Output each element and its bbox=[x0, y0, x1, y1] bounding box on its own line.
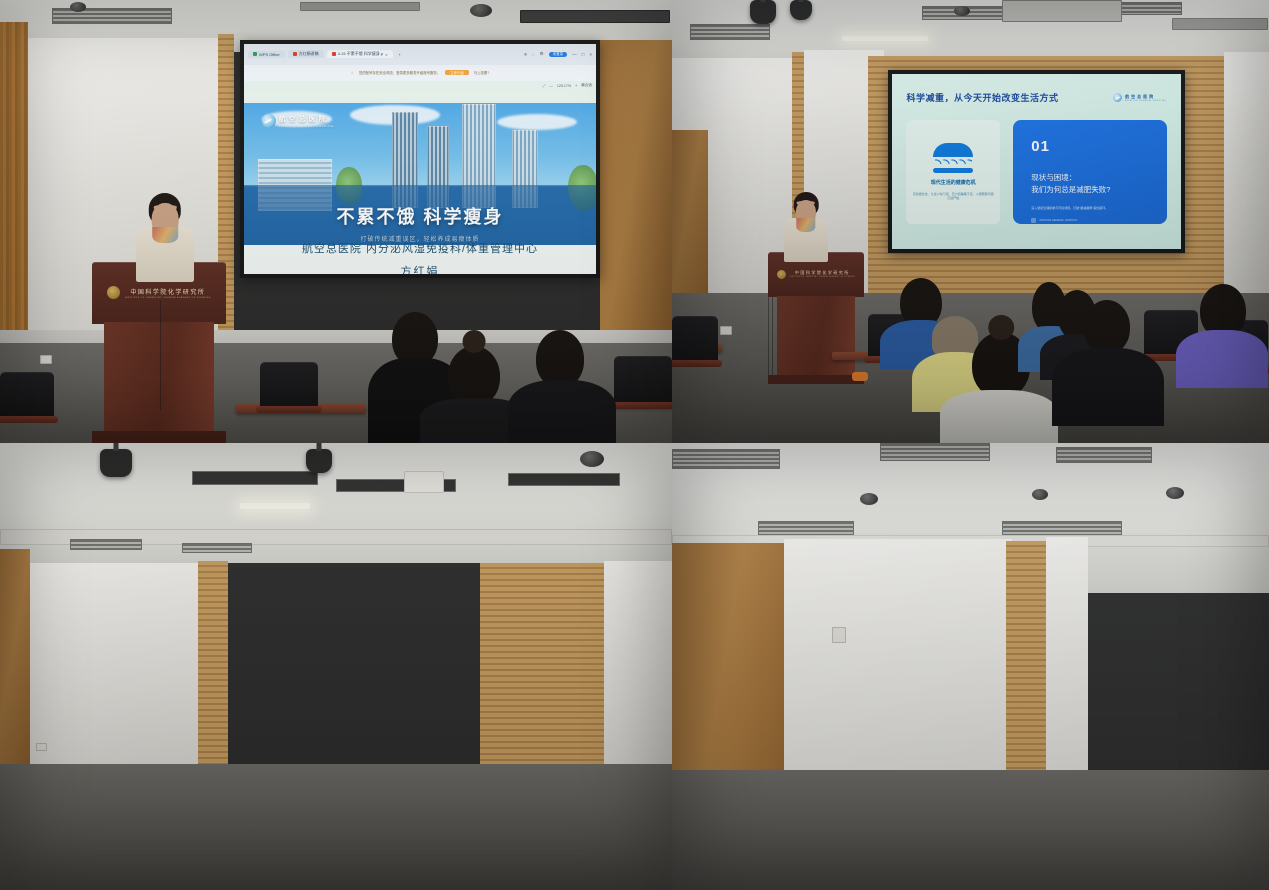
hospital-name-en: AVIATION GENERAL HOSPITAL bbox=[1125, 100, 1166, 102]
section-number: 01 bbox=[1031, 138, 1148, 155]
ppt-icon bbox=[332, 52, 336, 56]
audience-seat bbox=[672, 316, 718, 362]
ceiling-speaker-icon bbox=[580, 451, 604, 467]
wall-outlet-icon bbox=[832, 627, 846, 643]
ceiling-speaker-icon bbox=[860, 493, 878, 505]
hospital-mark-icon bbox=[1113, 93, 1122, 102]
section-note: 深入剖析生理机制与环境诱因，打破“越减越胖”恶性循环。 bbox=[1031, 206, 1148, 211]
ceiling-spotlight-icon bbox=[306, 449, 332, 473]
settings-icon[interactable]: ⚙ bbox=[540, 51, 544, 57]
hospital-name-cn: 航空总医院 bbox=[279, 114, 335, 124]
lectern: 中国科学院化学研究所 INSTITUTE OF CHEMISTRY, CHINE… bbox=[92, 262, 226, 443]
slide-hero-image: 航空总医院 AVIATION GENERAL HOSPITAL 不累不饿 科学瘦… bbox=[244, 103, 596, 246]
section-line-2: 我们为何总是减肥失败? bbox=[1031, 184, 1148, 196]
wps-tab-ppt-active[interactable]: 4-15 不累不饿 科学瘦身.p × bbox=[327, 50, 393, 58]
tab-label: WPS Office bbox=[259, 52, 280, 57]
speaker-figure bbox=[784, 196, 828, 262]
section-number-card: 01 现状与困境： 我们为何总是减肥失败? 深入剖析生理机制与环境诱因，打破“越… bbox=[1013, 120, 1166, 224]
venue-name-en: INSTITUTE OF CHEMISTRY, CHINESE ACADEMY … bbox=[790, 277, 856, 278]
wps-tab-home[interactable]: WPS Office bbox=[248, 51, 285, 58]
card-heading: 现代生活的健康危机 bbox=[931, 179, 976, 186]
venue-name-cn: 中国科学院化学研究所 bbox=[130, 287, 205, 296]
security-notice-bar: ⚠ 您的账号存在安全风险，登录更多服务升级账号服务。 立即升级 马上查看? bbox=[244, 65, 596, 81]
zoom-level-label: 125.17% bbox=[557, 84, 571, 88]
ceiling-spotlight-icon bbox=[100, 449, 132, 477]
zoom-controls[interactable]: ⤢ — 125.17% + 最合适 bbox=[542, 83, 592, 88]
notice-link[interactable]: 马上查看? bbox=[474, 70, 489, 75]
slide-speaker-name: 方红娟 bbox=[401, 263, 440, 274]
panel-bottom-left: 你是哪一种? 航空总医院 AVIATION GENERAL HOSPITAL bbox=[0, 443, 672, 890]
hero-text-band: 不累不饿 科学瘦身 打破传统减重误区，轻松养成易瘦体质 拒绝饥饿与疲惫，用科学重… bbox=[244, 185, 596, 245]
health-crisis-card: 现代生活的健康危机 高热量饮食、久坐少动习惯、压力和睡眠不足，人群肥胖问题日益严… bbox=[906, 120, 1000, 224]
ceiling-speaker-icon bbox=[1166, 487, 1184, 499]
share-icon[interactable]: ⌾ bbox=[524, 52, 527, 57]
close-icon[interactable]: × bbox=[385, 52, 387, 57]
ceiling-speaker-icon bbox=[70, 2, 86, 12]
audience-seat bbox=[614, 356, 672, 404]
lectern: 中国科学院化学研究所 INSTITUTE OF CHEMISTRY, CHINE… bbox=[768, 252, 864, 384]
slide-title: 航空总医院 AVIATION GENERAL HOSPITAL 不累不饿 科学瘦… bbox=[244, 103, 596, 246]
slide-section-01: 科学减重，从今天开始改变生活方式 航空总医院 AVIATION GENERAL … bbox=[892, 74, 1181, 249]
ceiling-spotlight-icon bbox=[790, 0, 812, 20]
burger-icon bbox=[933, 143, 973, 173]
hospital-logo: 航空总医院 AVIATION GENERAL HOSPITAL bbox=[1113, 93, 1166, 102]
ceiling-speaker-icon bbox=[1032, 489, 1048, 500]
slide-org-line: 航空总医院 内分泌风湿免疫科/体重管理中心 bbox=[302, 240, 538, 256]
wall-outlet-icon bbox=[36, 743, 47, 751]
audience-head bbox=[1084, 300, 1130, 354]
projector bbox=[404, 471, 444, 493]
venue-name-en: INSTITUTE OF CHEMISTRY, CHINESE ACADEMY … bbox=[125, 297, 211, 299]
wall-outlet-icon bbox=[40, 355, 52, 364]
institute-seal-icon bbox=[107, 286, 120, 299]
wps-logo-icon bbox=[253, 52, 257, 56]
account-button[interactable]: 未登录 bbox=[549, 52, 568, 57]
minimize-button[interactable]: — bbox=[572, 52, 577, 57]
panel-top-right: 科学减重，从今天开始改变生活方式 航空总医院 AVIATION GENERAL … bbox=[672, 0, 1269, 443]
warning-icon: ⚠ bbox=[351, 71, 354, 75]
speaker-figure bbox=[136, 198, 194, 282]
close-window-button[interactable]: × bbox=[589, 52, 592, 57]
wps-tab-doc[interactable]: 方红娟讲稿 bbox=[288, 50, 324, 58]
hospital-logo: 航空总医院 AVIATION GENERAL HOSPITAL bbox=[262, 114, 335, 128]
tag-icon bbox=[1031, 218, 1036, 223]
zoom-out-button[interactable]: — bbox=[549, 84, 553, 88]
hospital-name-en: AVIATION GENERAL HOSPITAL bbox=[279, 124, 335, 128]
tab-label: 4-15 不累不饿 科学瘦身.p bbox=[338, 51, 384, 57]
object-on-desk bbox=[852, 372, 868, 381]
audience-head bbox=[448, 346, 500, 406]
audience-seat bbox=[0, 372, 54, 418]
projection-screen: WPS Office 方红娟讲稿 4-15 不累不饿 科学瘦身.p × + ⌾ bbox=[240, 40, 600, 278]
wps-tab-bar[interactable]: WPS Office 方红娟讲稿 4-15 不累不饿 科学瘦身.p × + ⌾ bbox=[244, 44, 596, 65]
slide-headline: 不累不饿 科学瘦身 bbox=[336, 203, 503, 229]
fit-label[interactable]: 最合适 bbox=[581, 83, 592, 88]
panel-bottom-right: 航空总医院 AVIATION GENERAL HOSPITAL 不累不饿 科学瘦… bbox=[672, 443, 1269, 890]
projection-screen: 科学减重，从今天开始改变生活方式 航空总医院 AVIATION GENERAL … bbox=[888, 70, 1185, 253]
tag-label: AVIATION GENERAL HOSPITAL bbox=[1039, 219, 1077, 222]
doc-icon bbox=[293, 52, 297, 56]
tab-label: 方红娟讲稿 bbox=[299, 51, 319, 57]
wall-outlet-icon bbox=[720, 326, 732, 335]
panel-top-left: WPS Office 方红娟讲稿 4-15 不累不饿 科学瘦身.p × + ⌾ bbox=[0, 0, 672, 443]
ceiling-speaker-icon bbox=[470, 4, 492, 17]
section-title: 科学减重，从今天开始改变生活方式 bbox=[906, 91, 1058, 104]
notice-text: 您的账号存在安全风险，登录更多服务升级账号服务。 bbox=[359, 70, 440, 75]
fit-icon[interactable]: ⤢ bbox=[542, 84, 545, 88]
card-body: 高热量饮食、久坐少动习惯、压力和睡眠不足，人群肥胖问题日益严峻 bbox=[912, 192, 994, 201]
venue-name-cn: 中国科学院化学研究所 bbox=[795, 270, 850, 276]
maximize-button[interactable]: □ bbox=[582, 52, 585, 57]
slide-footer: 航空总医院 内分泌风湿免疫科/体重管理中心 方红娟 bbox=[244, 245, 596, 274]
window-controls[interactable]: ⌾ ◌ ⚙ 未登录 — □ × bbox=[524, 51, 592, 57]
institute-seal-icon bbox=[777, 270, 786, 279]
upgrade-button[interactable]: 立即升级 bbox=[445, 70, 469, 75]
zoom-in-button[interactable]: + bbox=[575, 84, 577, 88]
ceiling-spotlight-icon bbox=[750, 0, 776, 24]
hospital-mark-icon bbox=[262, 114, 276, 128]
section-line-1: 现状与困境： bbox=[1031, 172, 1148, 184]
new-tab-button[interactable]: + bbox=[396, 52, 404, 57]
photo-collage: WPS Office 方红娟讲稿 4-15 不累不饿 科学瘦身.p × + ⌾ bbox=[0, 0, 1269, 890]
audience-seat bbox=[260, 362, 318, 408]
comment-icon[interactable]: ◌ bbox=[532, 52, 535, 57]
ceiling-speaker-icon bbox=[954, 6, 970, 16]
section-tag: AVIATION GENERAL HOSPITAL bbox=[1031, 218, 1148, 223]
